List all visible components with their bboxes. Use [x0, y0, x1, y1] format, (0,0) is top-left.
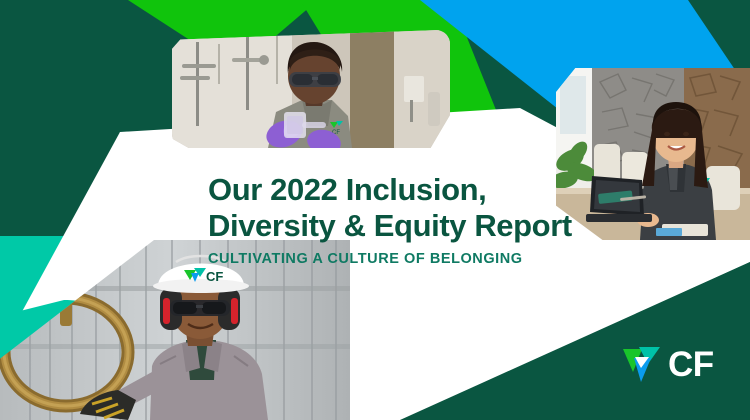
cf-logo: CF	[620, 341, 724, 387]
lab-technician-photo: CF	[172, 30, 450, 148]
report-cover: CF	[0, 0, 750, 420]
cf-triangle-mark-icon	[620, 342, 664, 386]
cf-wordmark: CF	[668, 347, 714, 382]
lab-technician-photo-art: CF	[172, 30, 450, 148]
svg-text:CF: CF	[206, 269, 223, 284]
page-subtitle: CULTIVATING A CULTURE OF BELONGING	[208, 251, 588, 267]
page-title: Our 2022 Inclusion, Diversity & Equity R…	[208, 172, 588, 244]
title-block: Our 2022 Inclusion, Diversity & Equity R…	[208, 172, 588, 267]
